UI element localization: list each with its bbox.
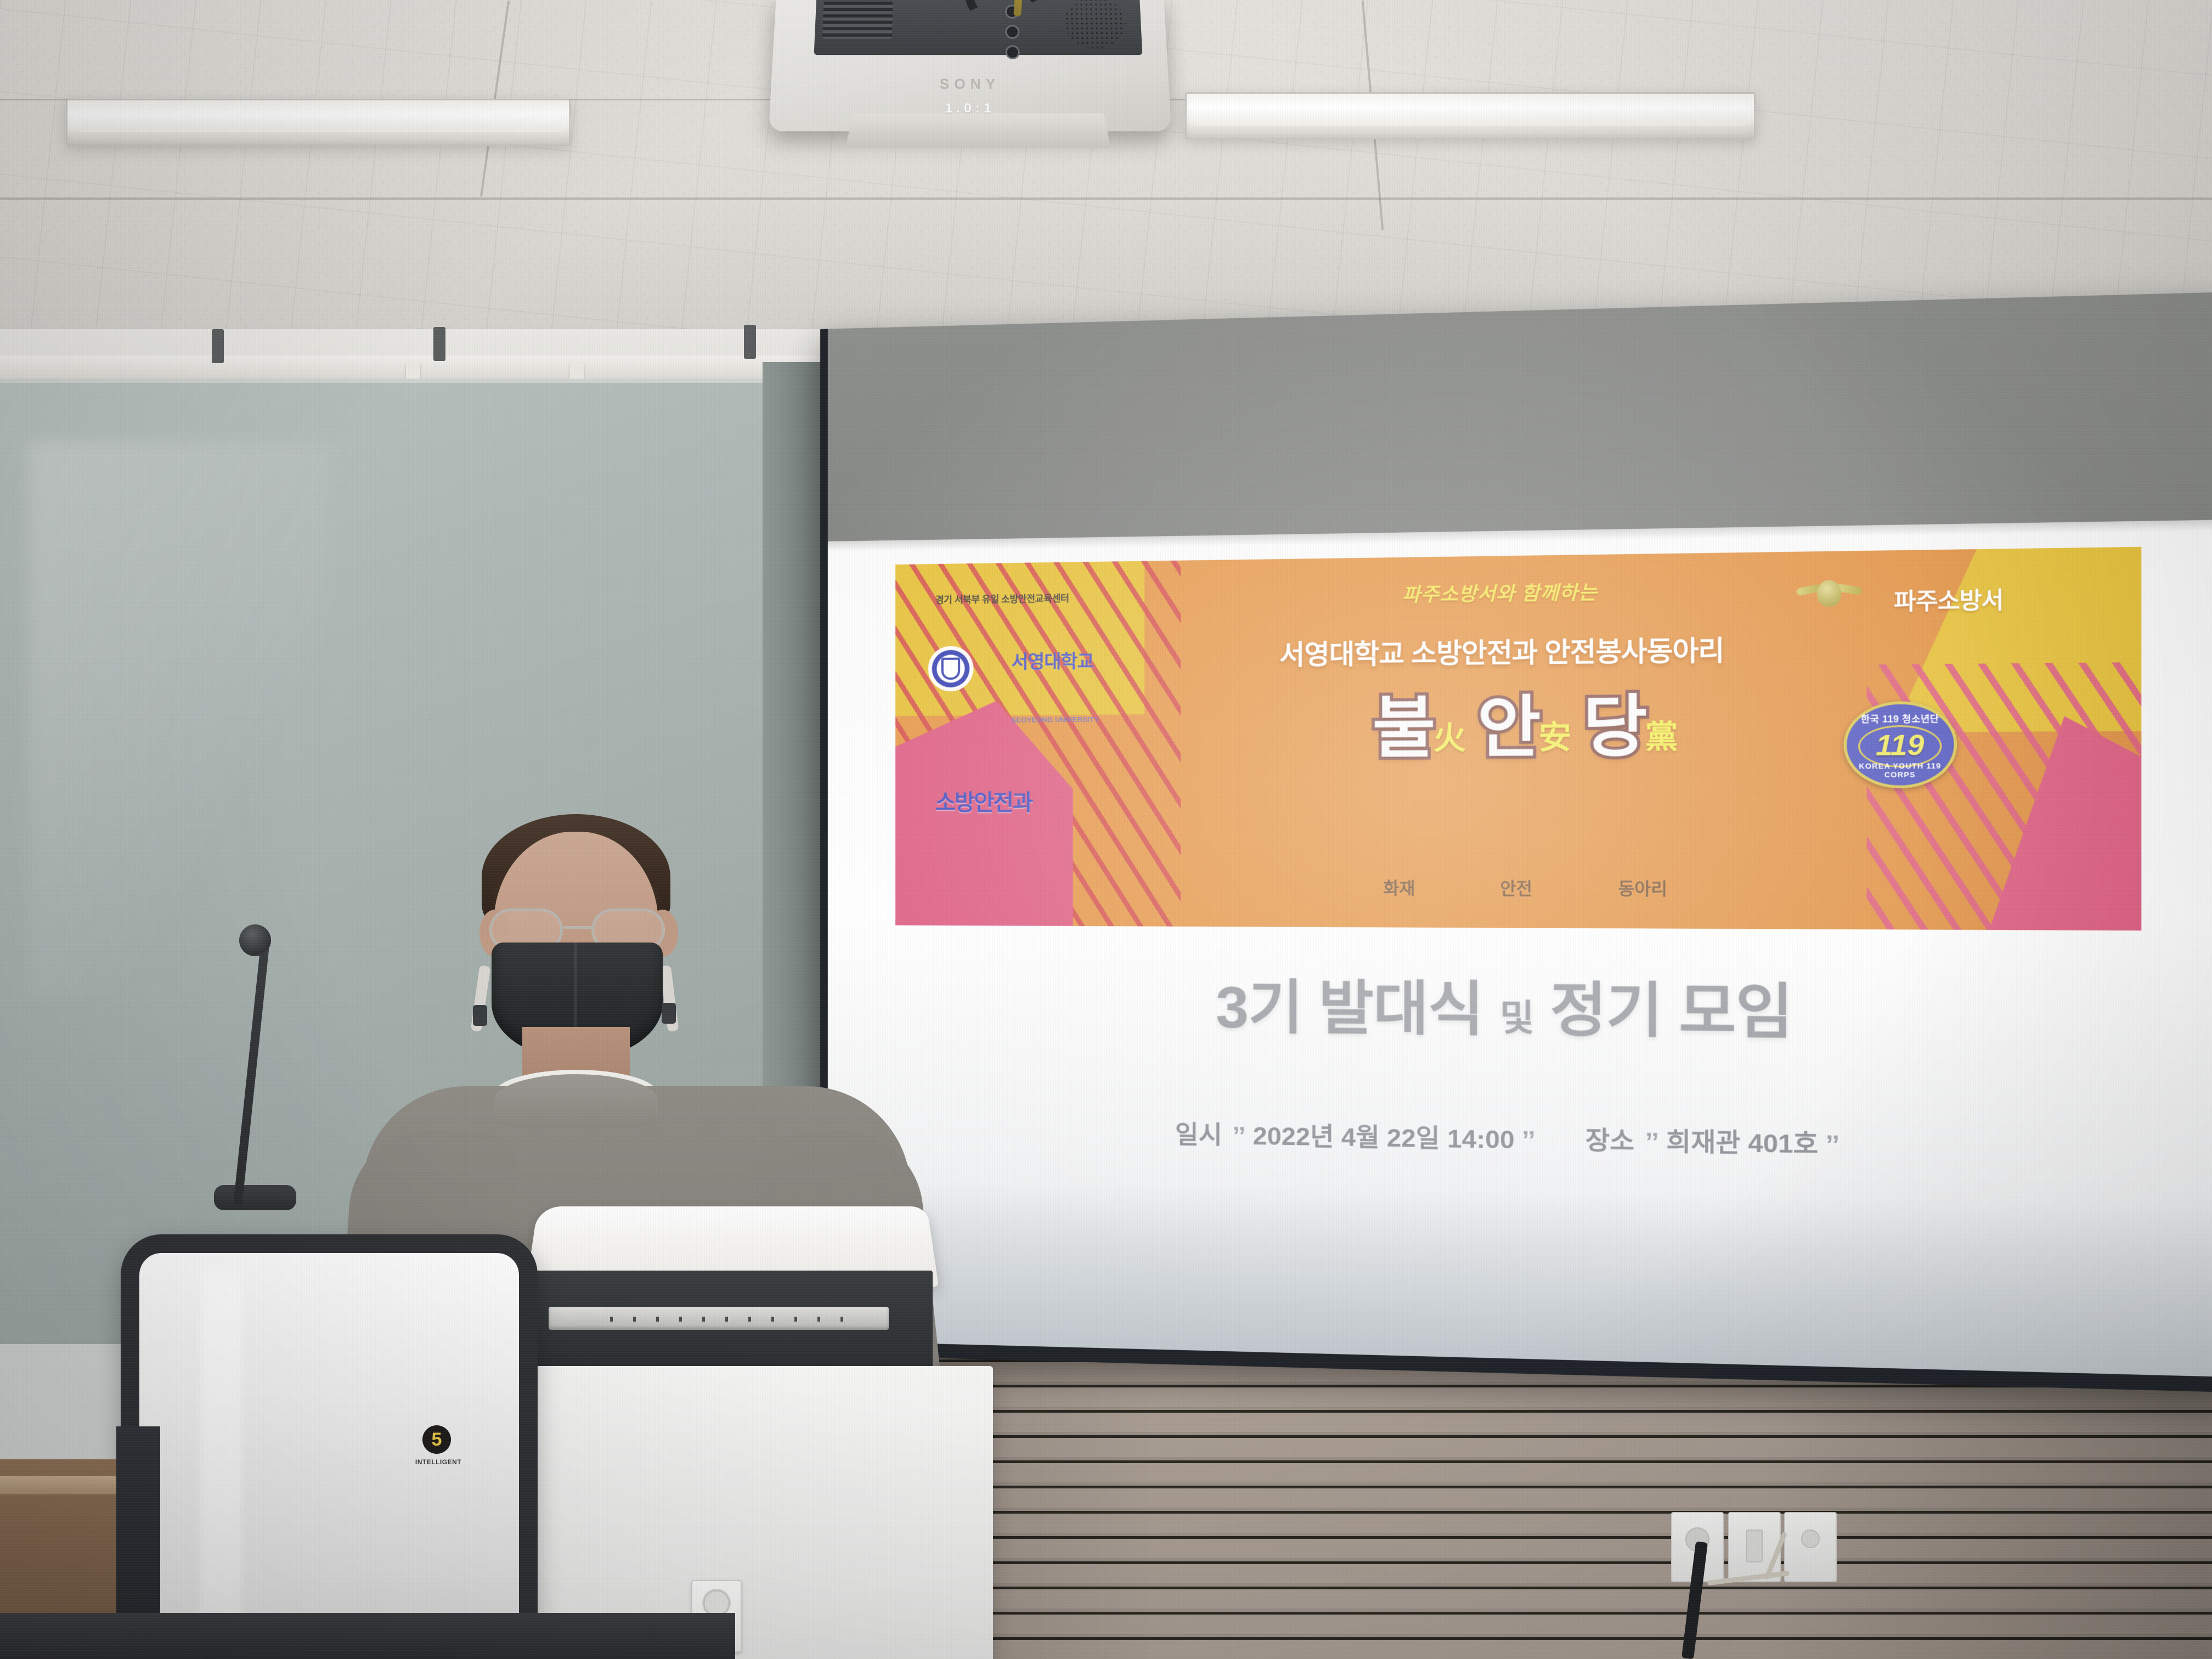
meta-date-value: 2022년 4월 22일 14:00 <box>1252 1121 1514 1154</box>
photo-scene: SONY 1.0:1 <box>0 0 2212 1659</box>
meta-quote-close-date: ˮ <box>1522 1125 1535 1154</box>
department-name: 소방안전과 <box>935 785 1032 817</box>
wall-plate-audio[interactable] <box>1784 1512 1837 1582</box>
screen-surface: 경기 서북부 유일 소방안전교육센터 서영대학교 SEOYEONG UNIVER… <box>828 292 2212 1377</box>
mask-strap-clip-left <box>473 1005 487 1026</box>
headline-main: 3기 발대식 <box>1216 975 1483 1043</box>
glasses-bridge <box>563 926 592 929</box>
banner-title-row: 불 火 안 安 당 黨 <box>1061 693 2010 877</box>
gloss-club: 동아리 <box>1618 875 1667 900</box>
microphone-capsule <box>239 924 271 956</box>
title-hangul-dang: 당 <box>1583 696 1647 759</box>
sweatshirt-collar <box>494 1074 658 1127</box>
projector-power-cable <box>958 0 1051 41</box>
projector-ceiling-mount <box>846 113 1110 148</box>
projector-brand-label: SONY <box>771 76 1169 93</box>
meta-spacer <box>1543 1149 1575 1149</box>
wall-plate-data[interactable] <box>1728 1512 1781 1582</box>
title-unit-fire: 불 火 <box>1373 698 1466 760</box>
projector-rear-panel <box>814 0 1143 55</box>
gloss-safety: 안전 <box>1500 874 1532 900</box>
ceiling-light-fixture <box>1185 92 1756 139</box>
board-glare <box>29 441 332 998</box>
projector-speaker-grille <box>1064 0 1127 48</box>
title-hangul-an: 안 <box>1477 697 1541 759</box>
slide-banner: 경기 서북부 유일 소방안전교육센터 서영대학교 SEOYEONG UNIVER… <box>896 547 2142 931</box>
projector-body: SONY 1.0:1 <box>769 0 1171 131</box>
headline-conjunction: 및 <box>1500 997 1534 1038</box>
floor-strip <box>0 1613 735 1659</box>
lectern[interactable]: 5 INTELLIGENT <box>82 1201 1015 1659</box>
data-jack-icon <box>1746 1530 1763 1562</box>
meta-date-label: 일시 <box>1175 1120 1222 1149</box>
mask-strap-clip-right <box>662 1003 676 1024</box>
headline-tail: 정기 모임 <box>1550 978 1793 1046</box>
meta-place-label: 장소 <box>1585 1126 1634 1155</box>
projection-screen: 경기 서북부 유일 소방안전교육센터 서영대학교 SEOYEONG UNIVER… <box>820 292 2212 1392</box>
lectern-brand-icon: 5 <box>422 1425 451 1454</box>
screen-unlit-band <box>828 292 2212 541</box>
gloss-fire: 화재 <box>1383 874 1415 899</box>
title-unit-club: 당 黨 <box>1583 696 1678 759</box>
slide-headline: 3기 발대식 및 정기 모임 <box>828 957 2212 1054</box>
fluorescent-tube <box>73 132 563 141</box>
fluorescent-tube <box>73 115 563 130</box>
rail-hook <box>744 325 756 359</box>
meta-place-value: 희재관 401호 <box>1666 1127 1818 1159</box>
ceiling-light-fixture <box>66 99 571 146</box>
ceiling-projector: SONY 1.0:1 <box>751 0 1189 142</box>
projector-vent <box>822 2 893 39</box>
title-hanja-an: 安 <box>1538 721 1571 753</box>
banner-gloss-row: 화재 안전 동아리 <box>1061 857 2010 919</box>
meta-quote-close-place: ˮ <box>1826 1129 1839 1159</box>
title-unit-safety: 안 安 <box>1477 697 1572 759</box>
lectern-brand-caption: INTELLIGENT <box>408 1458 469 1466</box>
drawer-slide-rail <box>549 1307 889 1330</box>
title-hangul-bul: 불 <box>1373 698 1436 759</box>
title-hanja-dang: 黨 <box>1645 720 1678 753</box>
lectern-front-panel <box>121 1234 538 1659</box>
slide-meta-line: 일시 ˮ 2022년 4월 22일 14:00 ˮ 장소 ˮ 희재관 401호 … <box>828 1109 2212 1167</box>
microphone-base <box>214 1185 296 1210</box>
meta-quote-open-place: ˮ <box>1645 1127 1658 1156</box>
projector-port <box>1006 45 1020 59</box>
meta-quote-open-date: ˮ <box>1233 1121 1245 1149</box>
ceiling-tile-seam <box>0 198 2212 200</box>
rail-hook <box>433 327 445 361</box>
projected-slide: 경기 서북부 유일 소방안전교육센터 서영대학교 SEOYEONG UNIVER… <box>828 520 2212 1377</box>
fluorescent-tube <box>1192 126 1748 134</box>
audio-jack-icon <box>1801 1530 1820 1548</box>
rail-hook <box>212 329 224 363</box>
title-hanja-hwa: 火 <box>1433 722 1466 754</box>
fluorescent-tube <box>1192 108 1748 123</box>
